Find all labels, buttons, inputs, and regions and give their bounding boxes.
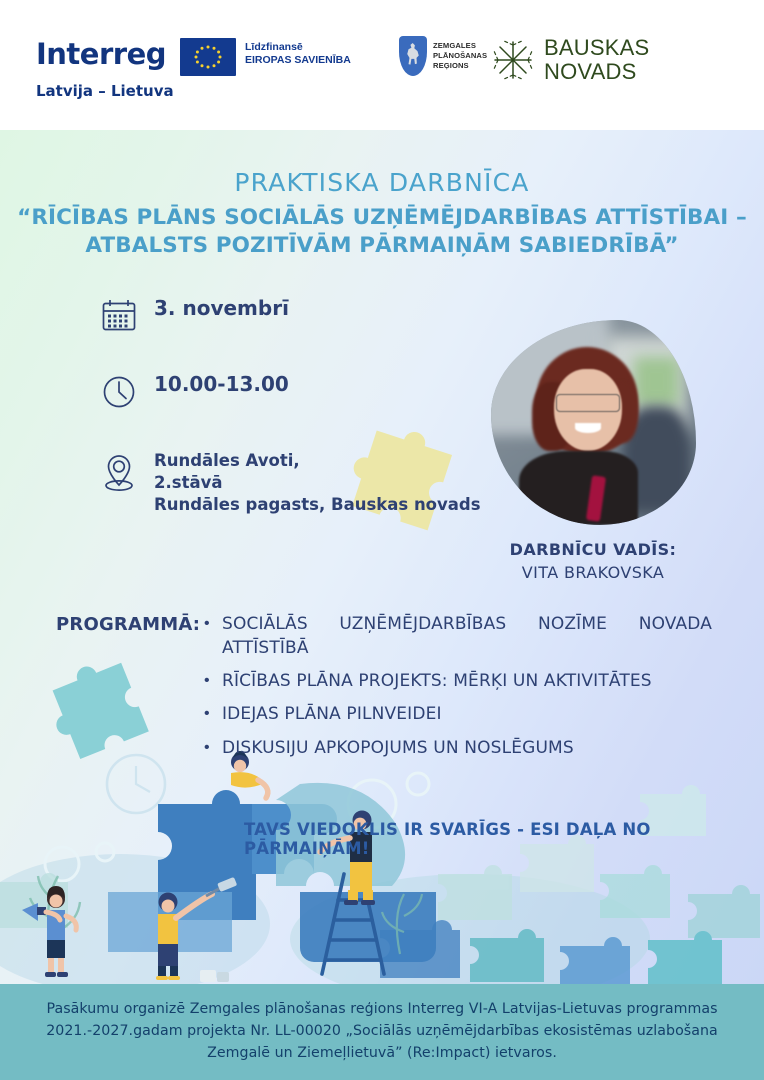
- programme-block: PROGRAMMĀ: • SOCIĀLĀS UZŅĒMĒJDARBĪBAS NO…: [56, 612, 736, 769]
- venue-line1: Rundāles Avoti,: [154, 450, 481, 472]
- speaker-photo: [491, 320, 696, 525]
- event-details: 3. novembrī 10.00-13.00: [100, 295, 481, 516]
- title-main-line2: ATBALSTS POZITĪVĀM PĀRMAIŅĀM SABIEDRĪBĀ”: [0, 232, 764, 260]
- eu-funding-line1: Līdzfinansē: [245, 41, 351, 54]
- location-pin-icon: [100, 450, 154, 499]
- zemgale-line1: ZEMGALES: [433, 41, 487, 51]
- event-venue-row: Rundāles Avoti, 2.stāvā Rundāles pagasts…: [100, 450, 481, 516]
- event-time-row: 10.00-13.00: [100, 371, 481, 416]
- programme-item: • IDEJAS PLĀNA PILNVEIDEI: [204, 702, 736, 726]
- programme-item-text: IDEJAS PLĀNA PILNVEIDEI: [222, 702, 442, 726]
- event-date-row: 3. novembrī: [100, 295, 481, 340]
- interreg-wordmark: Interreg: [36, 40, 174, 69]
- tagline: TAVS VIEDOKLIS IR SVARĪGS - ESI DAĻA NO …: [244, 820, 764, 858]
- interreg-programme-label: Latvija – Lietuva: [36, 82, 174, 100]
- event-time: 10.00-13.00: [154, 371, 289, 398]
- title-main-line1: “RĪCĪBAS PLĀNS SOCIĀLĀS UZŅĒMĒJDARBĪBAS …: [0, 204, 764, 232]
- bullet-icon: •: [204, 612, 222, 635]
- programme-label: PROGRAMMĀ:: [56, 612, 204, 769]
- programme-list: • SOCIĀLĀS UZŅĒMĒJDARBĪBAS NOZĪME NOVADA…: [204, 612, 736, 769]
- title-block: PRAKTISKA DARBNĪCA “RĪCĪBAS PLĀNS SOCIĀL…: [0, 168, 764, 260]
- title-eyebrow: PRAKTISKA DARBNĪCA: [0, 168, 764, 197]
- footer-text: Pasākumu organizē Zemgales plānošanas re…: [32, 999, 732, 1065]
- bauskas-logo-text: BAUSKAS NOVADS: [544, 36, 649, 84]
- speaker-role-label: DARBNĪCU VADĪS:: [478, 540, 708, 559]
- interreg-logo: Interreg Latvija – Lietuva: [36, 40, 174, 100]
- zemgale-region-logo: ZEMGALES PLĀNOŠANAS REĢIONS: [399, 36, 487, 76]
- zemgale-shield-icon: [399, 36, 427, 76]
- speaker-name: VITA BRAKOVSKA: [478, 563, 708, 582]
- bauskas-starburst-icon: [492, 39, 534, 81]
- clock-icon: [100, 371, 154, 416]
- programme-item: • DISKUSIJU APKOPOJUMS UN NOSLĒGUMS: [204, 736, 736, 760]
- speaker-block: DARBNĪCU VADĪS: VITA BRAKOVSKA: [478, 320, 708, 582]
- eu-flag-icon: [180, 38, 236, 76]
- venue-line3: Rundāles pagasts, Bauskas novads: [154, 494, 481, 516]
- programme-item-text: SOCIĀLĀS UZŅĒMĒJDARBĪBAS NOZĪME NOVADA A…: [222, 612, 712, 660]
- eu-emblem: Līdzfinansē EIROPAS SAVIENĪBA: [180, 38, 351, 76]
- programme-item: • RĪCĪBAS PLĀNA PROJEKTS: MĒRĶI UN AKTIV…: [204, 669, 736, 693]
- bauskas-line2: NOVADS: [544, 60, 649, 84]
- bauskas-line1: BAUSKAS: [544, 36, 649, 60]
- poster: Interreg Latvija – Lietuva: [0, 0, 764, 1080]
- eu-funding-text: Līdzfinansē EIROPAS SAVIENĪBA: [245, 38, 351, 68]
- bullet-icon: •: [204, 702, 222, 725]
- bauskas-novads-logo: BAUSKAS NOVADS: [492, 36, 649, 84]
- programme-item-text: RĪCĪBAS PLĀNA PROJEKTS: MĒRĶI UN AKTIVIT…: [222, 669, 652, 693]
- title-main: “RĪCĪBAS PLĀNS SOCIĀLĀS UZŅĒMĒJDARBĪBAS …: [0, 204, 764, 260]
- bullet-icon: •: [204, 736, 222, 759]
- calendar-icon: [100, 295, 154, 340]
- programme-item-text: DISKUSIJU APKOPOJUMS UN NOSLĒGUMS: [222, 736, 574, 760]
- event-venue: Rundāles Avoti, 2.stāvā Rundāles pagasts…: [154, 450, 481, 516]
- footer-band: Pasākumu organizē Zemgales plānošanas re…: [0, 984, 764, 1080]
- bullet-icon: •: [204, 669, 222, 692]
- logo-band: Interreg Latvija – Lietuva: [0, 0, 764, 130]
- event-date: 3. novembrī: [154, 295, 289, 322]
- zemgale-logo-text: ZEMGALES PLĀNOŠANAS REĢIONS: [433, 41, 487, 71]
- poster-body: PRAKTISKA DARBNĪCA “RĪCĪBAS PLĀNS SOCIĀL…: [0, 130, 764, 1080]
- programme-item: • SOCIĀLĀS UZŅĒMĒJDARBĪBAS NOZĪME NOVADA…: [204, 612, 736, 660]
- venue-line2: 2.stāvā: [154, 472, 481, 494]
- eu-funding-line2: EIROPAS SAVIENĪBA: [245, 54, 351, 67]
- zemgale-line3: REĢIONS: [433, 61, 487, 71]
- zemgale-line2: PLĀNOŠANAS: [433, 51, 487, 61]
